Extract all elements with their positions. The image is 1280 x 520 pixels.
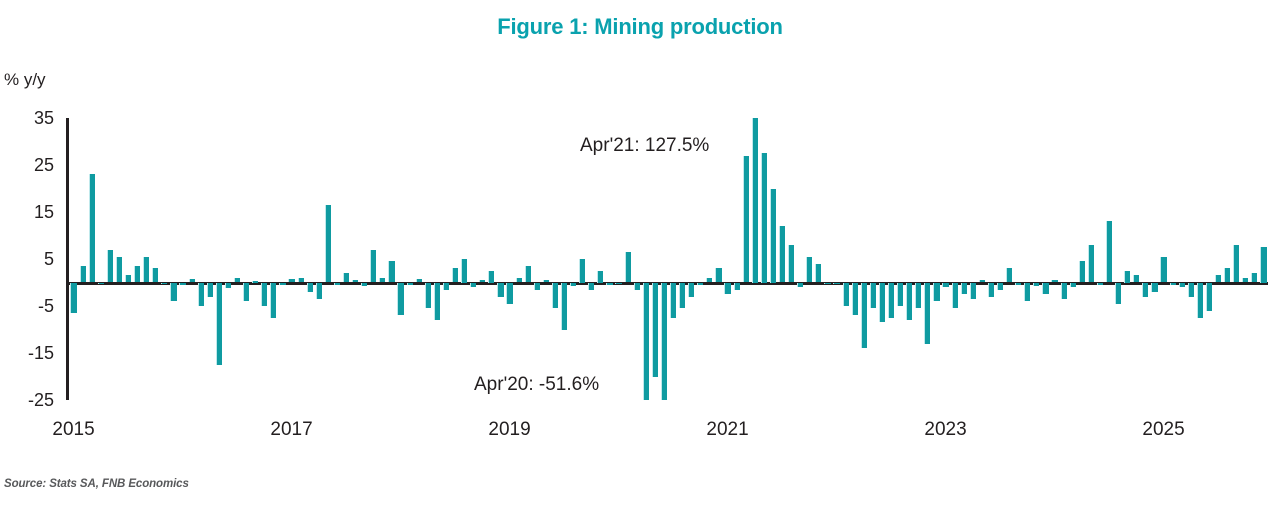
bar	[179, 283, 185, 286]
bar	[579, 259, 585, 283]
bar	[543, 280, 549, 282]
bar	[1033, 283, 1039, 287]
bar	[952, 283, 958, 309]
bar	[634, 283, 640, 290]
bar	[706, 278, 712, 283]
bar	[198, 283, 204, 307]
bar	[279, 283, 285, 286]
bar	[470, 283, 476, 288]
bar	[107, 250, 113, 283]
bar	[861, 283, 867, 349]
bar	[852, 283, 858, 316]
bar	[870, 283, 876, 309]
bar	[1215, 275, 1221, 282]
bar	[397, 283, 403, 316]
bar	[788, 245, 794, 283]
annotation-apr20-trough: Apr'20: -51.6%	[0, 375, 1280, 394]
bar	[688, 283, 694, 297]
bar	[98, 283, 104, 285]
bar	[761, 153, 767, 282]
bar	[379, 278, 385, 283]
bar	[961, 283, 967, 295]
bar	[924, 283, 930, 344]
bar	[697, 283, 703, 285]
bar	[615, 283, 621, 285]
bar	[597, 271, 603, 283]
bar	[824, 283, 830, 285]
bar	[1061, 283, 1067, 299]
bar	[552, 283, 558, 309]
bar	[89, 174, 95, 282]
x-axis-tick-label: 2015	[52, 420, 94, 439]
bar	[743, 156, 749, 283]
bar	[525, 266, 531, 282]
bar	[479, 280, 485, 282]
bar	[1224, 268, 1230, 282]
bar	[316, 283, 322, 299]
bar	[298, 278, 304, 283]
bar	[988, 283, 994, 297]
annotation-apr21-peak: Apr'21: 127.5%	[0, 136, 1280, 155]
bar	[443, 283, 449, 290]
bar	[561, 283, 567, 330]
bar	[452, 268, 458, 282]
bar	[334, 283, 340, 285]
bar	[970, 283, 976, 299]
bar	[243, 283, 249, 302]
x-axis-tick-label: 2023	[924, 420, 966, 439]
bar-series-mining-production	[0, 114, 1268, 404]
bar	[1106, 221, 1112, 282]
bar	[434, 283, 440, 321]
bar	[734, 283, 740, 290]
bar	[879, 283, 885, 323]
bar	[1079, 261, 1085, 282]
bar	[1006, 268, 1012, 282]
bar	[170, 283, 176, 302]
bar	[1042, 283, 1048, 295]
page-title: Figure 1: Mining production	[0, 14, 1280, 40]
bar	[679, 283, 685, 309]
bar	[715, 268, 721, 282]
bar	[161, 283, 167, 285]
bar	[915, 283, 921, 309]
bar	[997, 283, 1003, 290]
bar	[425, 283, 431, 309]
bar	[407, 283, 413, 285]
bar	[979, 280, 985, 282]
bar	[1233, 245, 1239, 283]
bar	[252, 281, 258, 283]
x-axis-tick-label: 2021	[706, 420, 748, 439]
bar	[625, 252, 631, 283]
bar	[1024, 283, 1030, 302]
bar	[1015, 283, 1021, 285]
bar	[1179, 283, 1185, 288]
bar	[152, 268, 158, 282]
bar	[234, 278, 240, 283]
bar	[1160, 257, 1166, 283]
bar	[225, 283, 231, 289]
bar	[416, 279, 422, 282]
bar	[1124, 271, 1130, 283]
bar	[80, 266, 86, 282]
bar	[570, 283, 576, 287]
x-axis-tick-label: 2017	[270, 420, 312, 439]
bar	[888, 283, 894, 318]
bar	[1197, 283, 1203, 318]
bar	[906, 283, 912, 321]
bar	[1206, 283, 1212, 311]
x-axis-tick-label: 2025	[1142, 420, 1184, 439]
bar	[370, 250, 376, 283]
bar	[189, 279, 195, 283]
bar	[1260, 247, 1266, 282]
bar	[134, 266, 140, 282]
bar	[361, 283, 367, 287]
bar	[588, 283, 594, 290]
bar	[307, 283, 313, 292]
bar	[70, 283, 76, 314]
bar	[1115, 283, 1121, 304]
bar	[1088, 245, 1094, 283]
bar	[1151, 283, 1157, 292]
bar	[933, 283, 939, 302]
bar	[606, 283, 612, 285]
bar	[815, 264, 821, 283]
bar	[343, 273, 349, 282]
bar	[207, 283, 213, 297]
bar	[216, 283, 222, 365]
bar	[1051, 280, 1057, 282]
bar	[1070, 283, 1076, 288]
bar	[516, 278, 522, 283]
bar	[506, 283, 512, 304]
figure-container: Figure 1: Mining production % y/y 352515…	[0, 0, 1280, 520]
bar	[1251, 273, 1257, 282]
bar	[1097, 283, 1103, 285]
bar	[770, 189, 776, 283]
bar	[652, 283, 658, 377]
bar	[261, 283, 267, 307]
bar	[288, 279, 294, 283]
bar	[806, 257, 812, 283]
bar	[670, 283, 676, 318]
bar	[833, 283, 839, 285]
bar	[325, 205, 331, 283]
x-axis-tick-label: 2019	[488, 420, 530, 439]
bar	[352, 280, 358, 282]
bar	[116, 257, 122, 283]
bar	[1242, 278, 1248, 283]
bar	[843, 283, 849, 307]
bar	[897, 283, 903, 307]
bar	[270, 283, 276, 318]
bar	[1142, 283, 1148, 297]
source-note: Source: Stats SA, FNB Economics	[4, 478, 189, 490]
bar	[143, 257, 149, 283]
bar	[461, 259, 467, 283]
y-axis-unit-label: % y/y	[4, 70, 46, 90]
bar	[797, 283, 803, 288]
bar	[724, 283, 730, 295]
bar	[488, 271, 494, 283]
bar	[1188, 283, 1194, 297]
bar	[1170, 283, 1176, 285]
bar	[779, 226, 785, 282]
bar	[125, 275, 131, 282]
bar	[1133, 275, 1139, 282]
bar	[534, 283, 540, 290]
bar	[497, 283, 503, 297]
bar	[942, 283, 948, 288]
bar	[388, 261, 394, 282]
